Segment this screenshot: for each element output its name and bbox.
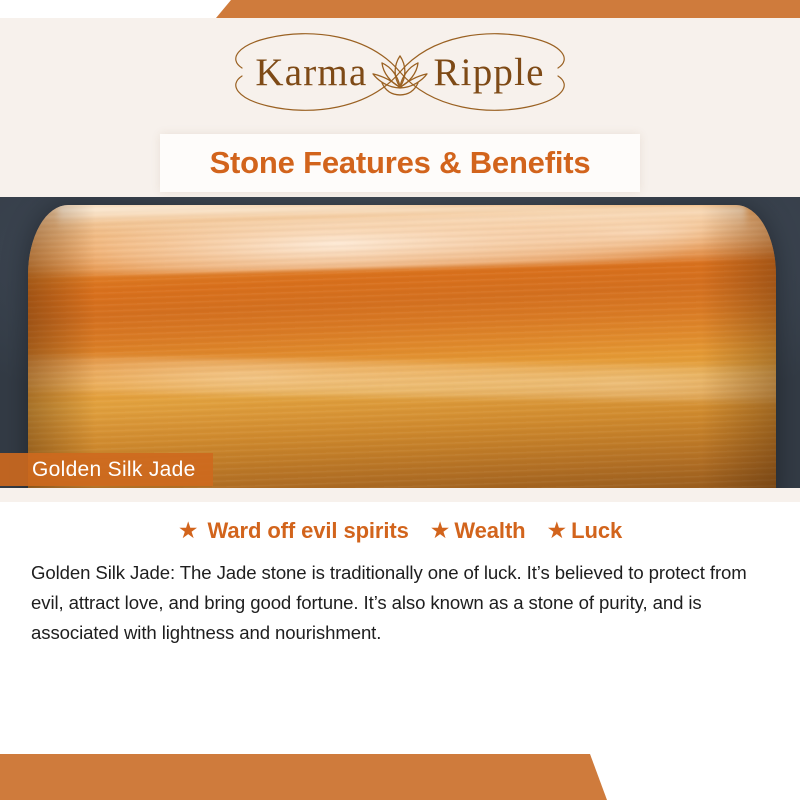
stone-edge-shading (28, 205, 776, 488)
brand-lockup: Karma Ripple (190, 24, 610, 120)
infographic-canvas: Karma Ripple Stone Features & Benefits (0, 0, 800, 800)
benefit-label: Wealth (454, 518, 525, 544)
benefit-label: Luck (571, 518, 622, 544)
panel-top-gap (0, 488, 800, 502)
jade-stone-slab (28, 205, 776, 488)
stone-photo: Golden Silk Jade (0, 197, 800, 488)
benefit-label: Ward off evil spirits (208, 518, 409, 544)
star-icon: ★ (178, 519, 199, 542)
benefits-row: ★ Ward off evil spirits ★ Wealth ★ Luck (0, 518, 800, 544)
star-icon: ★ (547, 519, 568, 542)
headline-band: Stone Features & Benefits (0, 134, 800, 192)
frame-bottom-band (0, 754, 800, 800)
benefit-item: ★ Luck (547, 518, 623, 544)
headline-plate: Stone Features & Benefits (160, 134, 640, 192)
star-icon: ★ (430, 519, 451, 542)
benefit-item: ★ Wealth (430, 518, 526, 544)
brand-word-right: Ripple (433, 53, 544, 92)
stone-description: Golden Silk Jade: The Jade stone is trad… (31, 558, 776, 648)
lotus-icon (369, 50, 431, 98)
stone-name-label: Golden Silk Jade (32, 458, 196, 482)
stone-name-badge: Golden Silk Jade (0, 453, 213, 486)
brand-word-left: Karma (255, 53, 367, 92)
content-panel: ★ Ward off evil spirits ★ Wealth ★ Luck … (0, 488, 800, 754)
frame-top-band (0, 0, 800, 18)
benefit-item: ★ Ward off evil spirits (178, 518, 409, 544)
page-title: Stone Features & Benefits (210, 145, 591, 181)
brand-logo: Karma Ripple (0, 18, 800, 126)
